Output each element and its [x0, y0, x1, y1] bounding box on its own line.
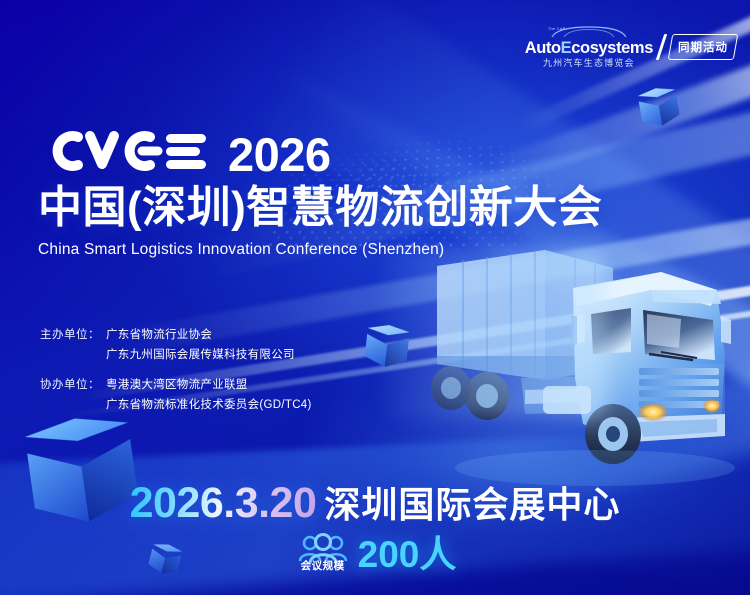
partner-name: AutoEcosystems — [525, 40, 653, 57]
car-silhouette-icon: The CAR — [546, 26, 632, 39]
date-venue-line: 2026.3.20 深圳国际会展中心 — [0, 482, 750, 525]
scale-value: 200人 — [358, 536, 457, 573]
partner-tiny-text: The CAR — [548, 27, 566, 31]
motion-blur-wake — [385, 248, 605, 418]
partner-name-cn: 九州汽车生态博览会 — [543, 59, 635, 68]
divider — [656, 34, 667, 60]
event-date: 2026.3.20 — [130, 482, 317, 525]
semi-truck-illustration — [425, 228, 750, 498]
auto-ecosystems-logo: The CAR AutoEcosystems 九州汽车生态博览会 — [525, 26, 653, 68]
logo-line: 2026 — [38, 126, 698, 176]
organizer-block: 主办单位： 广东省物流行业协会 广东九州国际会展传媒科技有限公司 协办单位： 粤… — [40, 326, 370, 416]
conference-title-cn: 中国(深圳)智慧物流创新大会 — [38, 184, 698, 232]
organizer-value: 广东省物流行业协会 — [106, 326, 295, 342]
year-label: 2026 — [228, 131, 331, 178]
co-organizer-value: 广东省物流标准化技术委员会(GD/TC4) — [106, 396, 312, 412]
co-organizer-label: 协办单位： — [40, 376, 106, 412]
cvee-logo — [38, 126, 210, 176]
co-organizer-row: 协办单位： 粤港澳大湾区物流产业联盟 广东省物流标准化技术委员会(GD/TC4) — [40, 376, 370, 412]
partner-logo-block[interactable]: The CAR AutoEcosystems 九州汽车生态博览会 同期活动 — [525, 26, 736, 68]
conference-title-en: China Smart Logistics Innovation Confere… — [38, 241, 698, 259]
event-venue: 深圳国际会展中心 — [324, 487, 620, 523]
conference-promo-banner: The CAR AutoEcosystems 九州汽车生态博览会 同期活动 — [0, 0, 750, 595]
hero-copy: 2026 中国(深圳)智慧物流创新大会 China Smart Logistic… — [38, 126, 698, 259]
cvee-wordmark-icon — [38, 128, 210, 174]
organizer-label: 主办单位： — [40, 326, 106, 362]
concurrent-event-badge[interactable]: 同期活动 — [668, 34, 739, 60]
conference-scale: 会议规模 200人 — [0, 534, 750, 574]
scale-label: 会议规模 — [294, 558, 352, 573]
cube-small-center — [364, 323, 410, 369]
organizer-row: 主办单位： 广东省物流行业协会 广东九州国际会展传媒科技有限公司 — [40, 326, 370, 362]
semi-truck-icon — [425, 228, 750, 498]
co-organizer-value: 粤港澳大湾区物流产业联盟 — [106, 376, 312, 392]
organizer-value: 广东九州国际会展传媒科技有限公司 — [106, 346, 295, 362]
people-group-icon: 会议规模 — [294, 534, 352, 574]
